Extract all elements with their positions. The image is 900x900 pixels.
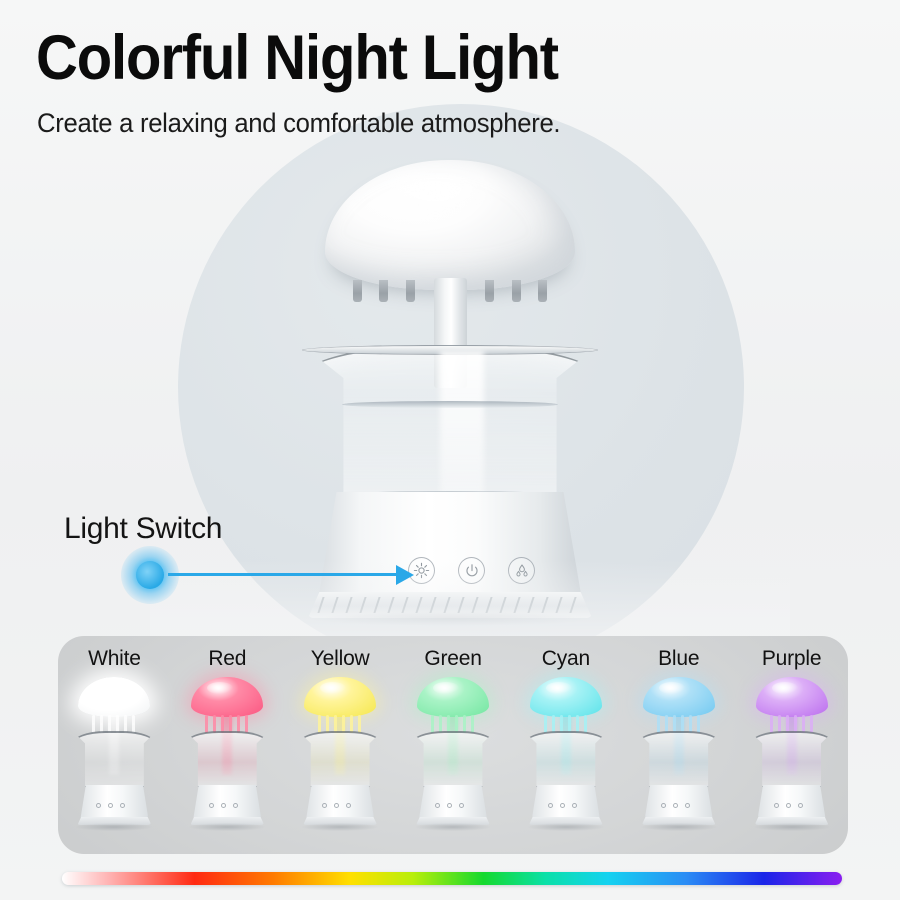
swatch-label: Purple (762, 647, 822, 671)
mini-rain-drops (542, 715, 590, 733)
mini-shadow (189, 823, 265, 831)
callout-marker-dot (136, 561, 164, 589)
mini-device (629, 673, 729, 837)
mini-tank (298, 731, 382, 787)
mini-base (80, 785, 148, 819)
swatch-label: Cyan (542, 647, 590, 671)
mini-shadow (76, 823, 152, 831)
mini-shadow (641, 823, 717, 831)
color-swatch-red[interactable]: Red (171, 636, 284, 854)
mini-tank (524, 731, 608, 787)
nozzle (406, 280, 415, 302)
mini-device (403, 673, 503, 837)
mini-tank (637, 731, 721, 787)
mini-device (177, 673, 277, 837)
mushroom-cap (325, 160, 575, 290)
mini-shadow (415, 823, 491, 831)
mini-device (742, 673, 842, 837)
color-swatch-blue[interactable]: Blue (622, 636, 735, 854)
mini-device (64, 673, 164, 837)
color-swatch-white[interactable]: White (58, 636, 171, 854)
mini-cap (643, 677, 715, 717)
mini-shadow (302, 823, 378, 831)
mini-cap (304, 677, 376, 717)
mini-controls (435, 803, 464, 808)
mini-controls (322, 803, 351, 808)
mini-controls (96, 803, 125, 808)
mini-controls (661, 803, 690, 808)
mini-controls (774, 803, 803, 808)
mini-rain-drops (768, 715, 816, 733)
callout-arrow-head (396, 565, 414, 585)
swatch-label: Green (424, 647, 481, 671)
mini-base (645, 785, 713, 819)
mini-base (306, 785, 374, 819)
nozzle (379, 280, 388, 302)
mini-device (516, 673, 616, 837)
page-subtitle: Create a relaxing and comfortable atmosp… (37, 108, 560, 139)
mini-tank (72, 731, 156, 787)
mini-rain-drops (655, 715, 703, 733)
nozzle (353, 280, 362, 302)
mini-cap (78, 677, 150, 717)
mini-tank (750, 731, 834, 787)
color-swatch-yellow[interactable]: Yellow (284, 636, 397, 854)
nozzle (485, 280, 494, 302)
nozzle (538, 280, 547, 302)
color-swatch-panel: White Red (58, 636, 848, 854)
mini-tank (185, 731, 269, 787)
mini-tank (411, 731, 495, 787)
mini-controls (209, 803, 238, 808)
mini-base (532, 785, 600, 819)
mini-base (758, 785, 826, 819)
mini-rain-drops (90, 715, 138, 733)
mini-rain-drops (429, 715, 477, 733)
color-swatch-cyan[interactable]: Cyan (509, 636, 622, 854)
mini-rain-drops (316, 715, 364, 733)
mini-shadow (528, 823, 604, 831)
water-tank (302, 345, 598, 510)
page-title: Colorful Night Light (36, 26, 558, 90)
mini-shadow (754, 823, 830, 831)
color-swatch-row: White Red (58, 636, 848, 854)
page-canvas: Colorful Night Light Create a relaxing a… (0, 0, 900, 900)
swatch-label: Yellow (311, 647, 370, 671)
nozzle (512, 280, 521, 302)
swatch-label: Blue (658, 647, 699, 671)
mini-rain-drops (203, 715, 251, 733)
mini-controls (548, 803, 577, 808)
mini-base (193, 785, 261, 819)
mini-cap (417, 677, 489, 717)
mini-base (419, 785, 487, 819)
cap-highlight (397, 174, 493, 216)
mist-plume (440, 351, 484, 501)
rainbow-gradient-bar (62, 872, 842, 885)
color-swatch-purple[interactable]: Purple (735, 636, 848, 854)
light-switch-label: Light Switch (64, 512, 222, 546)
mini-cap (756, 677, 828, 717)
swatch-label: Red (208, 647, 246, 671)
color-swatch-green[interactable]: Green (397, 636, 510, 854)
mini-cap (191, 677, 263, 717)
callout-arrow-line (168, 573, 404, 576)
mini-cap (530, 677, 602, 717)
swatch-label: White (88, 647, 141, 671)
water-level-line (342, 401, 558, 408)
mini-device (290, 673, 390, 837)
